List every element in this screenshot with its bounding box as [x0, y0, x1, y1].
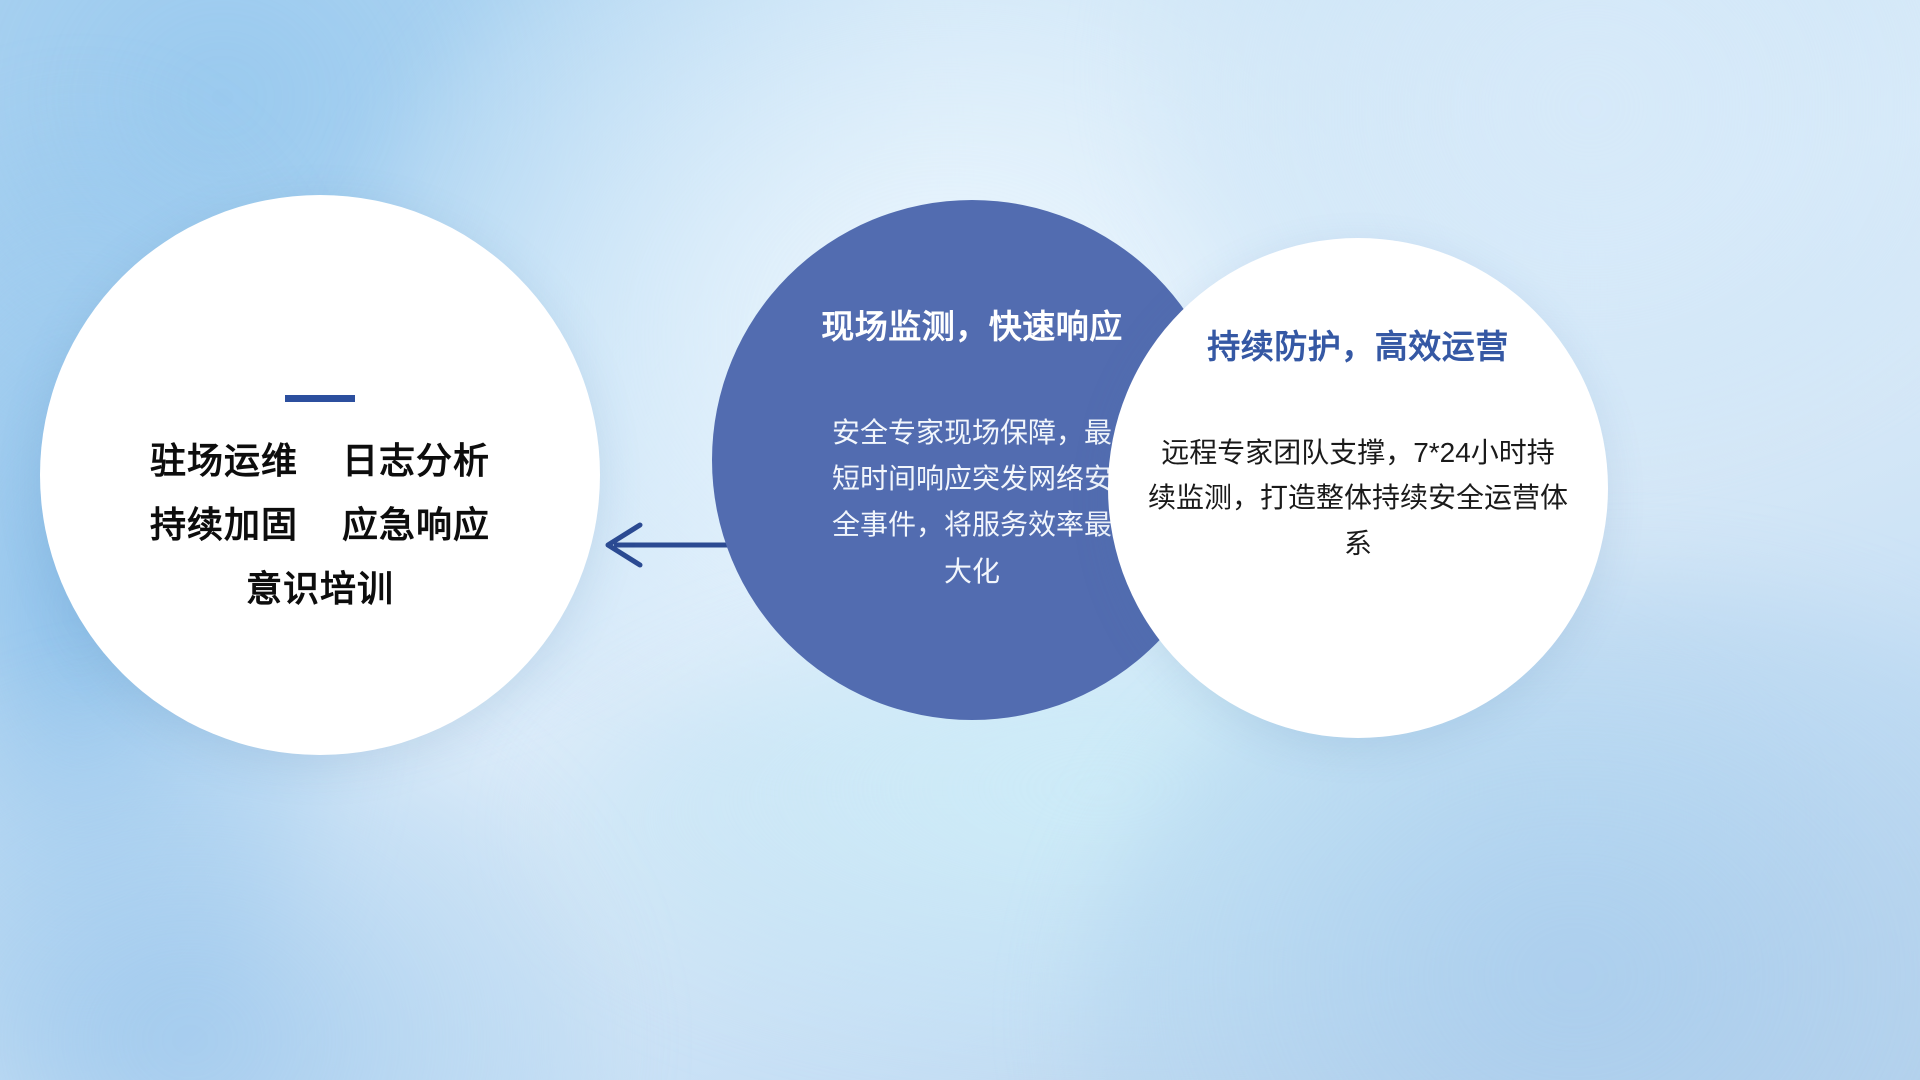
onsite-monitoring-title: 现场监测，快速响应	[821, 300, 1123, 348]
capability-circle-left[interactable]: 驻场运维 日志分析 持续加固 应急响应 意识培训	[40, 195, 600, 755]
continuous-protection-title: 持续防护，高效运营	[1207, 320, 1509, 368]
accent-dash-icon	[285, 395, 355, 402]
continuous-protection-circle[interactable]: 持续防护，高效运营 远程专家团队支撑，7*24小时持续监测，打造整体持续安全运营…	[1108, 238, 1608, 738]
capability-line: 驻场运维 日志分析	[40, 442, 600, 480]
slide-canvas: 驻场运维 日志分析 持续加固 应急响应 意识培训 现场监测，快速响应 安全专家现…	[0, 0, 1920, 1080]
onsite-monitoring-body: 安全专家现场保障，最短时间响应突发网络安全事件，将服务效率最大化	[822, 410, 1122, 595]
capability-line: 持续加固 应急响应	[40, 506, 600, 544]
capability-line: 意识培训	[40, 570, 600, 608]
capability-list: 驻场运维 日志分析 持续加固 应急响应 意识培训	[40, 442, 600, 607]
continuous-protection-body: 远程专家团队支撑，7*24小时持续监测，打造整体持续安全运营体系	[1148, 430, 1568, 566]
